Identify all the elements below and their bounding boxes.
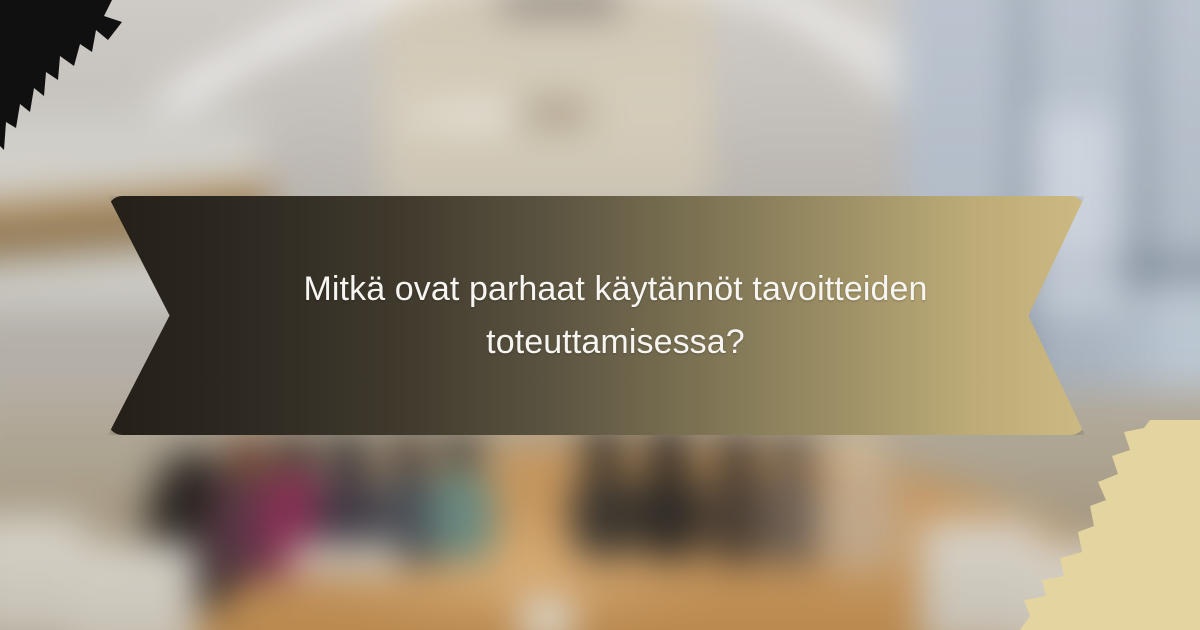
ceiling-vent	[500, 0, 620, 16]
table-cup	[520, 598, 574, 630]
person-head	[276, 432, 316, 474]
question-line-1: Mitkä ovat parhaat käytännöt tavoitteide…	[236, 263, 996, 316]
question-line-2: toteuttamisessa?	[236, 316, 996, 369]
office-chair	[68, 542, 198, 630]
person-head	[388, 430, 428, 470]
office-chair	[1020, 544, 1150, 630]
question-text: Mitkä ovat parhaat käytännöt tavoitteide…	[236, 263, 996, 368]
person-head	[772, 432, 808, 470]
person-head	[716, 430, 754, 470]
person-head	[328, 432, 368, 472]
question-ribbon: Mitkä ovat parhaat käytännöt tavoitteide…	[108, 196, 1085, 435]
person-head	[444, 430, 480, 468]
ceiling-vent	[520, 100, 590, 126]
social-card: Mitkä ovat parhaat käytännöt tavoitteide…	[0, 0, 1200, 630]
table-papers	[290, 544, 400, 574]
person-head	[226, 434, 270, 480]
